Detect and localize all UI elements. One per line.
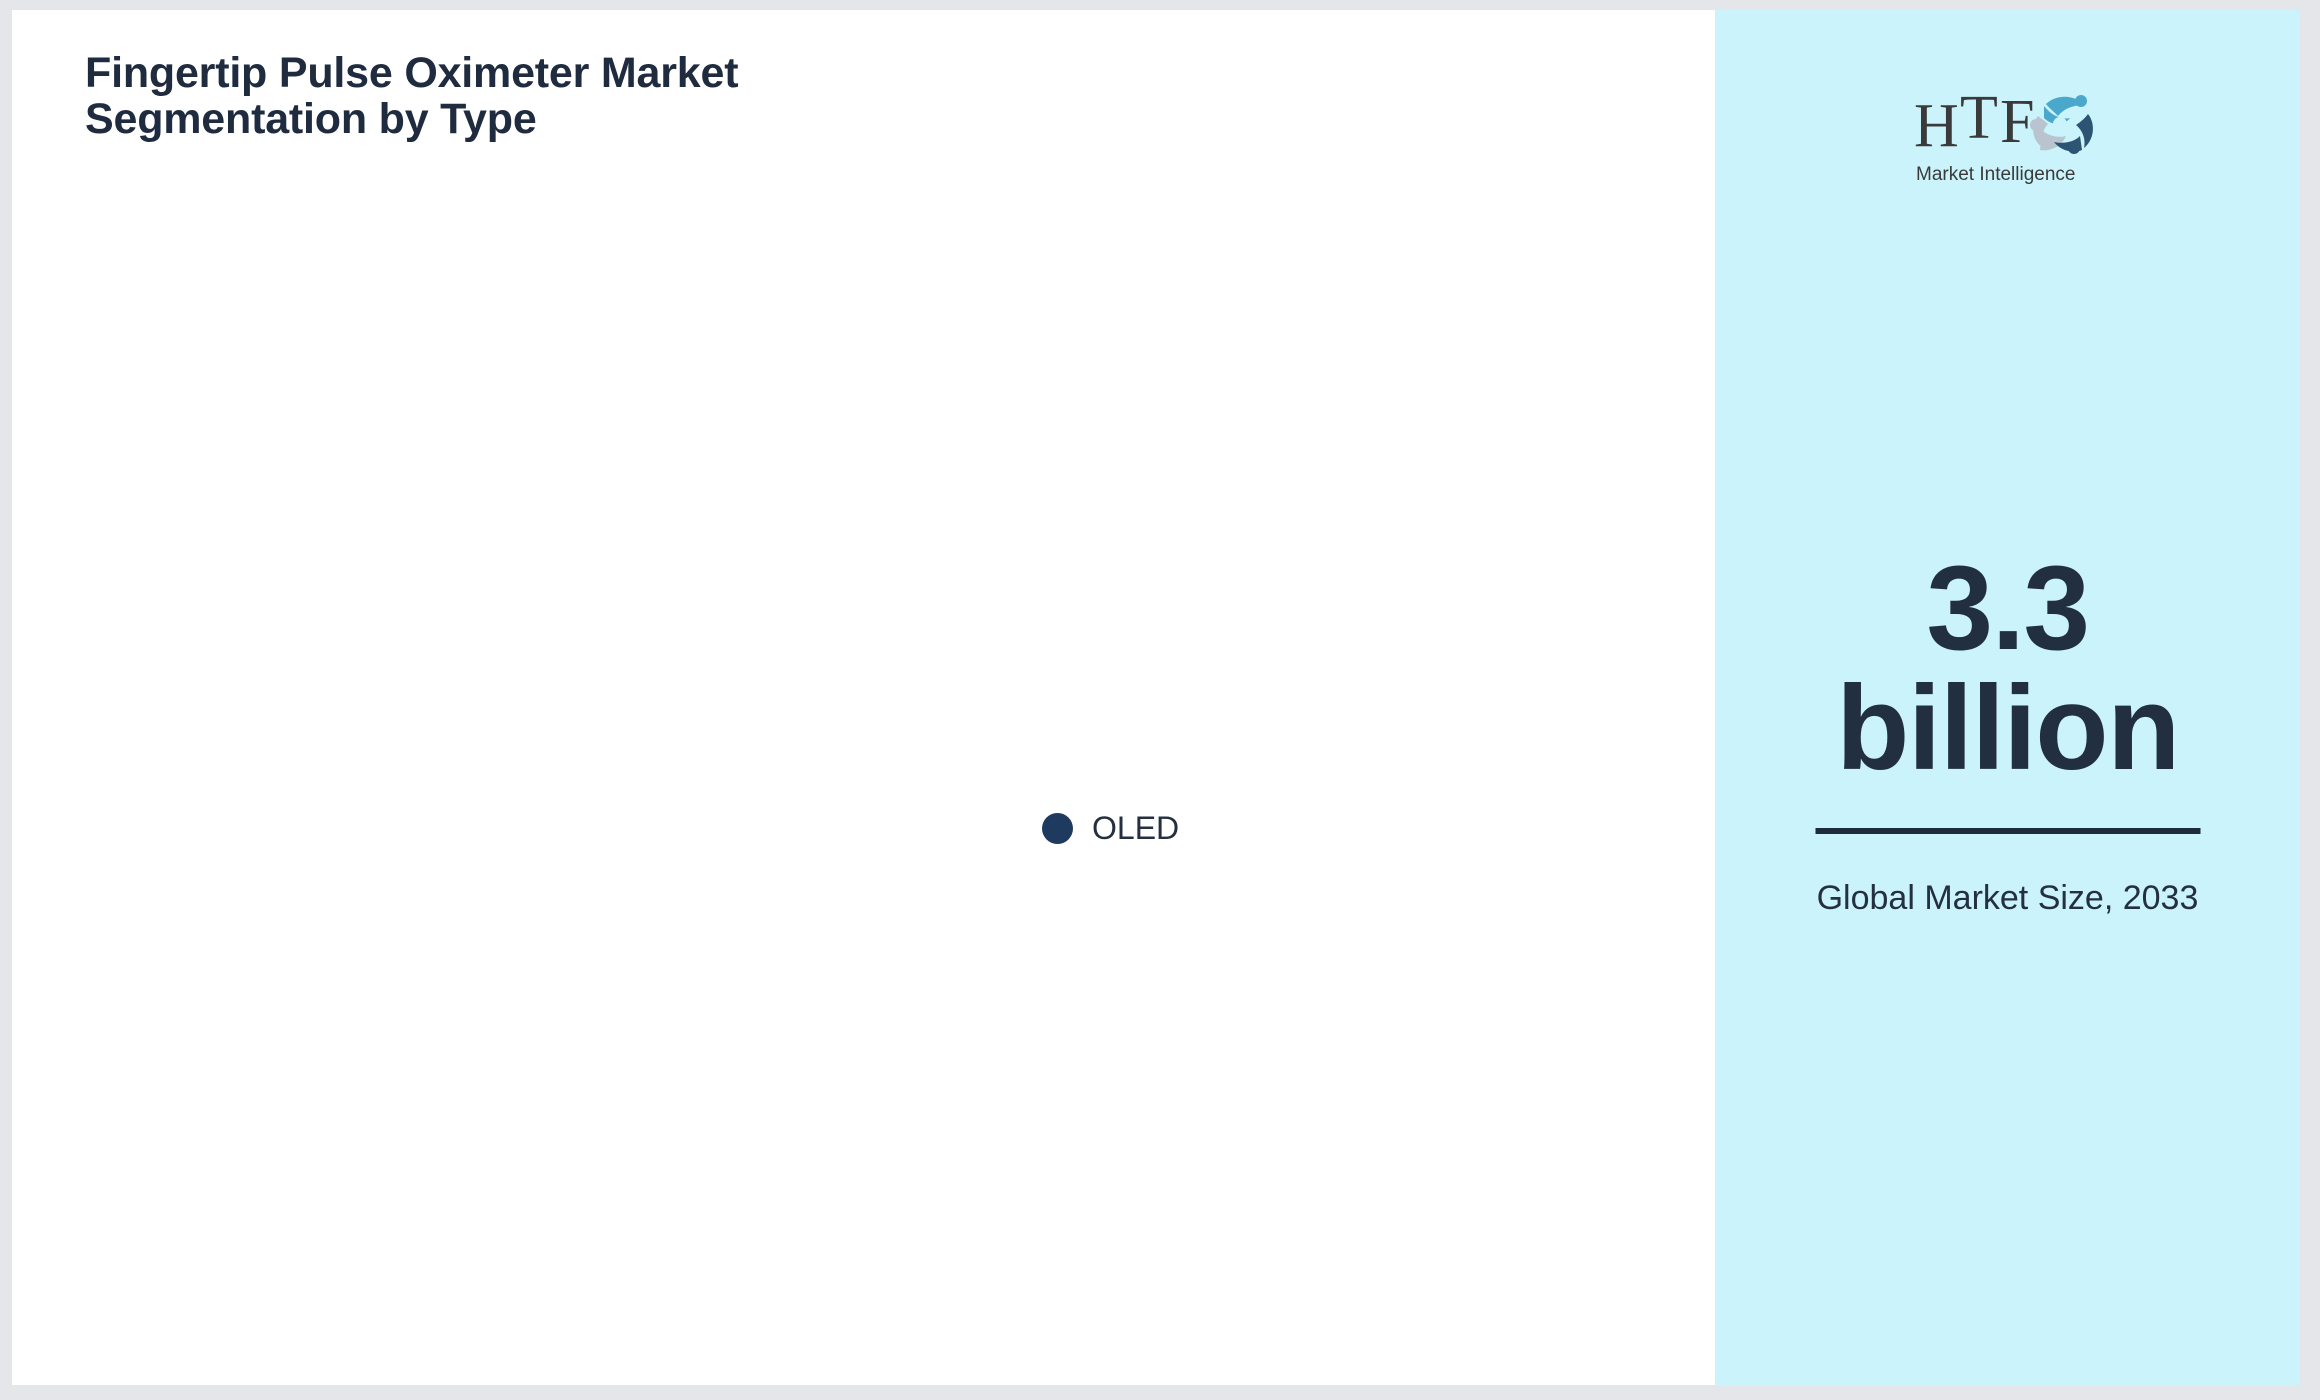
chart-panel: Fingertip Pulse Oximeter Market Segmenta… [12, 10, 1715, 1385]
page-title: Fingertip Pulse Oximeter Market Segmenta… [85, 50, 1085, 143]
legend-item-oled[interactable]: OLED [1092, 812, 1179, 844]
chart-plot-area: OLED [12, 130, 1715, 1385]
report-card: Fingertip Pulse Oximeter Market Segmenta… [12, 10, 2300, 1385]
svg-text:Market Intelligence: Market Intelligence [1916, 164, 2075, 185]
legend-swatch-icon [1042, 813, 1073, 844]
stat-divider [1815, 828, 2200, 834]
htf-market-intelligence-logo: H T F [1908, 68, 2108, 188]
chart-legend: OLED [1042, 812, 1179, 844]
svg-text:F: F [2000, 88, 2034, 156]
svg-text:H: H [1914, 92, 1959, 160]
stat-caption: Global Market Size, 2033 [1765, 875, 2250, 922]
logo-icon: H T F [1908, 68, 2108, 188]
stat-value: 3.3 billion [1739, 548, 2276, 788]
svg-text:T: T [1960, 84, 1998, 152]
screenshot-viewport: Fingertip Pulse Oximeter Market Segmenta… [0, 0, 2320, 1400]
stat-panel: H T F [1715, 10, 2300, 1385]
